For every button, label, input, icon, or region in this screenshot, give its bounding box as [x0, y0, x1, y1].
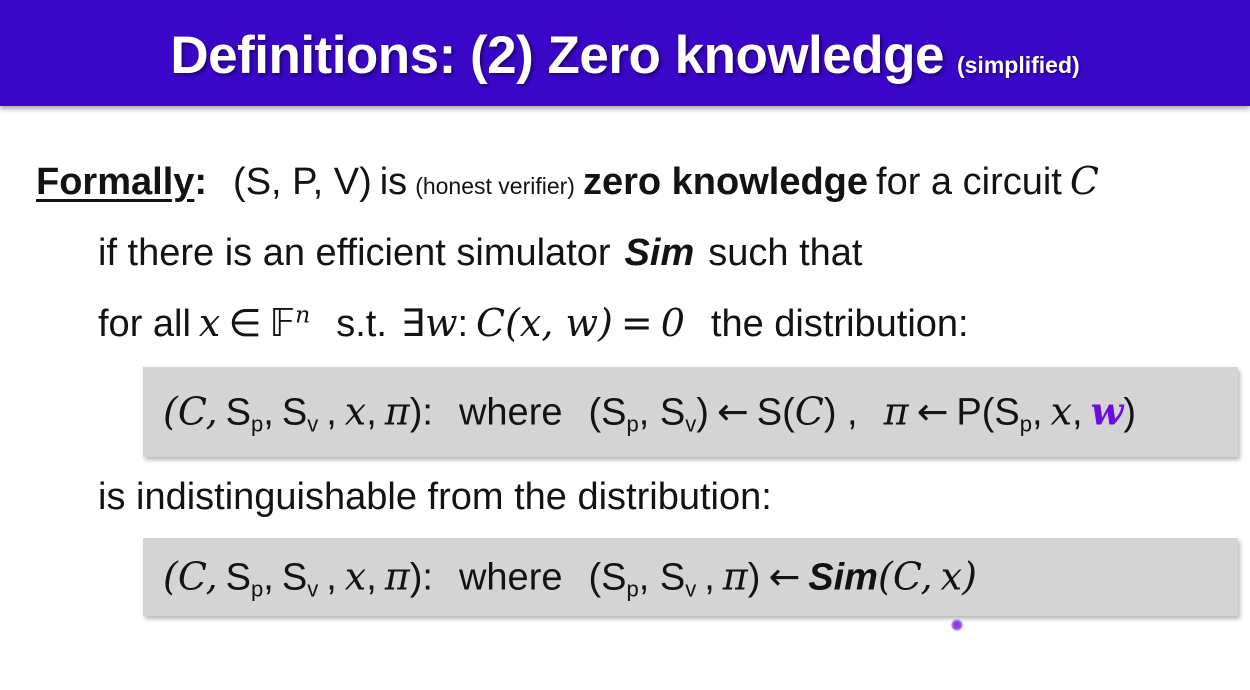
- b1-comma2: ,: [263, 392, 274, 434]
- zero-value: 0: [661, 301, 685, 345]
- b2-sim-sub-p: p: [626, 577, 638, 602]
- field-symbol: 𝔽: [269, 301, 295, 345]
- b1-sub-p: p: [251, 412, 263, 437]
- b1-circuit: C: [178, 390, 206, 434]
- b1-setup-sub-v: v: [685, 412, 696, 437]
- is-word: is: [380, 161, 407, 203]
- var-x-symbol: x: [199, 301, 220, 345]
- b1-prover-fn: P(S: [956, 392, 1019, 434]
- for-all-text: for all: [98, 303, 191, 345]
- b2-sim-arg-c: C: [893, 555, 921, 599]
- b1-s-verifier: S: [282, 392, 307, 434]
- b1-setup-fn-close: ) ,: [824, 392, 858, 434]
- b1-setup-comma: , S: [639, 392, 685, 434]
- b2-pi: π: [385, 555, 410, 599]
- b2-paren-open: (: [163, 555, 178, 599]
- slide-canvas: Definitions: (2) Zero knowledge (simplif…: [0, 0, 1250, 690]
- distribution-box-simulated: (C,Sp,Sv,x,π):where(Sp, Sv,π)←Sim(C,x): [143, 538, 1238, 616]
- b2-sim-close: ): [748, 557, 761, 599]
- b1-comma1: ,: [206, 390, 218, 434]
- b1-paren-open: (: [163, 390, 178, 434]
- b2-sim-comma: , S: [639, 557, 685, 599]
- b1-prover-close: ): [1123, 392, 1136, 434]
- b1-prover-comma: ,: [1032, 392, 1043, 434]
- definition-line-simulator: if there is an efficient simulatorSimsuc…: [98, 234, 862, 272]
- slide-body: Formally:(S, P, V)is(honest verifier)zer…: [0, 106, 1250, 690]
- b1-setup-open: (S: [588, 392, 626, 434]
- for-a-circuit-text: for a circuit: [876, 161, 1062, 203]
- formally-label: Formally: [36, 161, 194, 203]
- definition-line-formally: Formally:(S, P, V)is(honest verifier)zer…: [36, 162, 1099, 201]
- b2-sim-arg-x: x: [941, 555, 962, 599]
- b2-s-verifier: S: [282, 557, 307, 599]
- b2-comma2: ,: [263, 557, 274, 599]
- b1-prover-sub-p: p: [1020, 412, 1032, 437]
- b1-comma4: ,: [366, 392, 377, 434]
- exists-icon: ∃: [401, 301, 425, 345]
- b2-sim-open: (S: [588, 557, 626, 599]
- b1-witness-w: w: [1091, 389, 1124, 434]
- b2-var-x: x: [345, 555, 366, 599]
- b2-circuit: C: [178, 555, 206, 599]
- b1-setup-close: ): [696, 392, 709, 434]
- b2-sub-p: p: [251, 577, 263, 602]
- b2-sim-pi: π: [723, 555, 748, 599]
- b2-comma4: ,: [366, 557, 377, 599]
- b1-sub-v: v: [307, 412, 318, 437]
- b1-var-x: x: [345, 390, 366, 434]
- title-line: Definitions: (2) Zero knowledge (simplif…: [170, 25, 1079, 86]
- page-title: Definitions: (2) Zero knowledge: [170, 25, 944, 86]
- distribution-box-real: (C,Sp,Sv,x,π):where(Sp, Sv)←S(C) ,π←P(Sp…: [143, 367, 1238, 457]
- simulator-prefix: if there is an efficient simulator: [98, 232, 611, 274]
- equals-sign: =: [621, 301, 653, 345]
- protocol-tuple: (S, P, V): [233, 161, 372, 203]
- b2-sim-sub-v: v: [685, 577, 696, 602]
- b2-comma1: ,: [206, 555, 218, 599]
- b1-prover-x: x: [1051, 390, 1072, 434]
- b2-s-prover: S: [226, 557, 251, 599]
- circuit-fn-symbol: C: [476, 301, 505, 345]
- slide-title-banner: Definitions: (2) Zero knowledge (simplif…: [0, 0, 1250, 106]
- b2-where: where: [459, 557, 563, 599]
- distribution-box-simulated-formula: (C,Sp,Sv,x,π):where(Sp, Sv,π)←Sim(C,x): [163, 558, 977, 597]
- field-exponent: n: [295, 300, 310, 328]
- b1-prover-comma2: ,: [1072, 392, 1083, 434]
- distribution-box-real-formula: (C,Sp,Sv,x,π):where(Sp, Sv)←S(C) ,π←P(Sp…: [163, 393, 1136, 432]
- simulator-symbol: Sim: [625, 232, 695, 274]
- b2-sub-v: v: [307, 577, 318, 602]
- circuit-fn-args: (x, w): [505, 301, 613, 345]
- the-distribution-text: the distribution:: [711, 303, 969, 345]
- b1-proof-arrow-icon: ←: [917, 390, 949, 434]
- element-of-icon: ∈: [228, 301, 261, 345]
- honest-verifier-note: (honest verifier): [415, 173, 575, 199]
- b1-s-prover: S: [226, 392, 251, 434]
- b1-comma3: ,: [326, 392, 337, 434]
- var-w-symbol: w: [425, 301, 458, 345]
- formally-colon: :: [194, 161, 207, 203]
- b2-sim-args-close: ): [962, 555, 977, 599]
- b1-setup-sub-p: p: [626, 412, 638, 437]
- b2-assign-arrow-icon: ←: [768, 555, 800, 599]
- title-qualifier: (simplified): [957, 52, 1080, 79]
- b1-where: where: [459, 392, 563, 434]
- circuit-symbol: C: [1070, 159, 1099, 203]
- definition-line-forall: for allx∈𝔽ns.t.∃w:C(x, w)=0the distribut…: [98, 304, 969, 343]
- laser-pointer-dot: [951, 619, 963, 631]
- b2-sim-args-comma: ,: [921, 555, 933, 599]
- b2-comma3: ,: [326, 557, 337, 599]
- definition-line-indistinguishable: is indistinguishable from the distributi…: [98, 478, 772, 516]
- b2-sim-name: Sim: [808, 557, 878, 599]
- b2-sim-comma2: ,: [704, 557, 715, 599]
- zero-knowledge-emphasis: zero knowledge: [583, 161, 868, 203]
- b1-proof-pi: π: [884, 390, 909, 434]
- b2-paren-close: ):: [410, 557, 433, 599]
- b1-setup-arg: C: [795, 390, 824, 434]
- b1-paren-close: ):: [410, 392, 433, 434]
- forall-colon: :: [457, 303, 468, 345]
- such-that-abbrev: s.t.: [336, 303, 387, 345]
- b1-pi: π: [385, 390, 410, 434]
- b1-assign-arrow-icon: ←: [717, 390, 749, 434]
- b1-setup-fn: S(: [757, 392, 795, 434]
- simulator-suffix: such that: [708, 232, 862, 274]
- b2-sim-args-open: (: [878, 555, 893, 599]
